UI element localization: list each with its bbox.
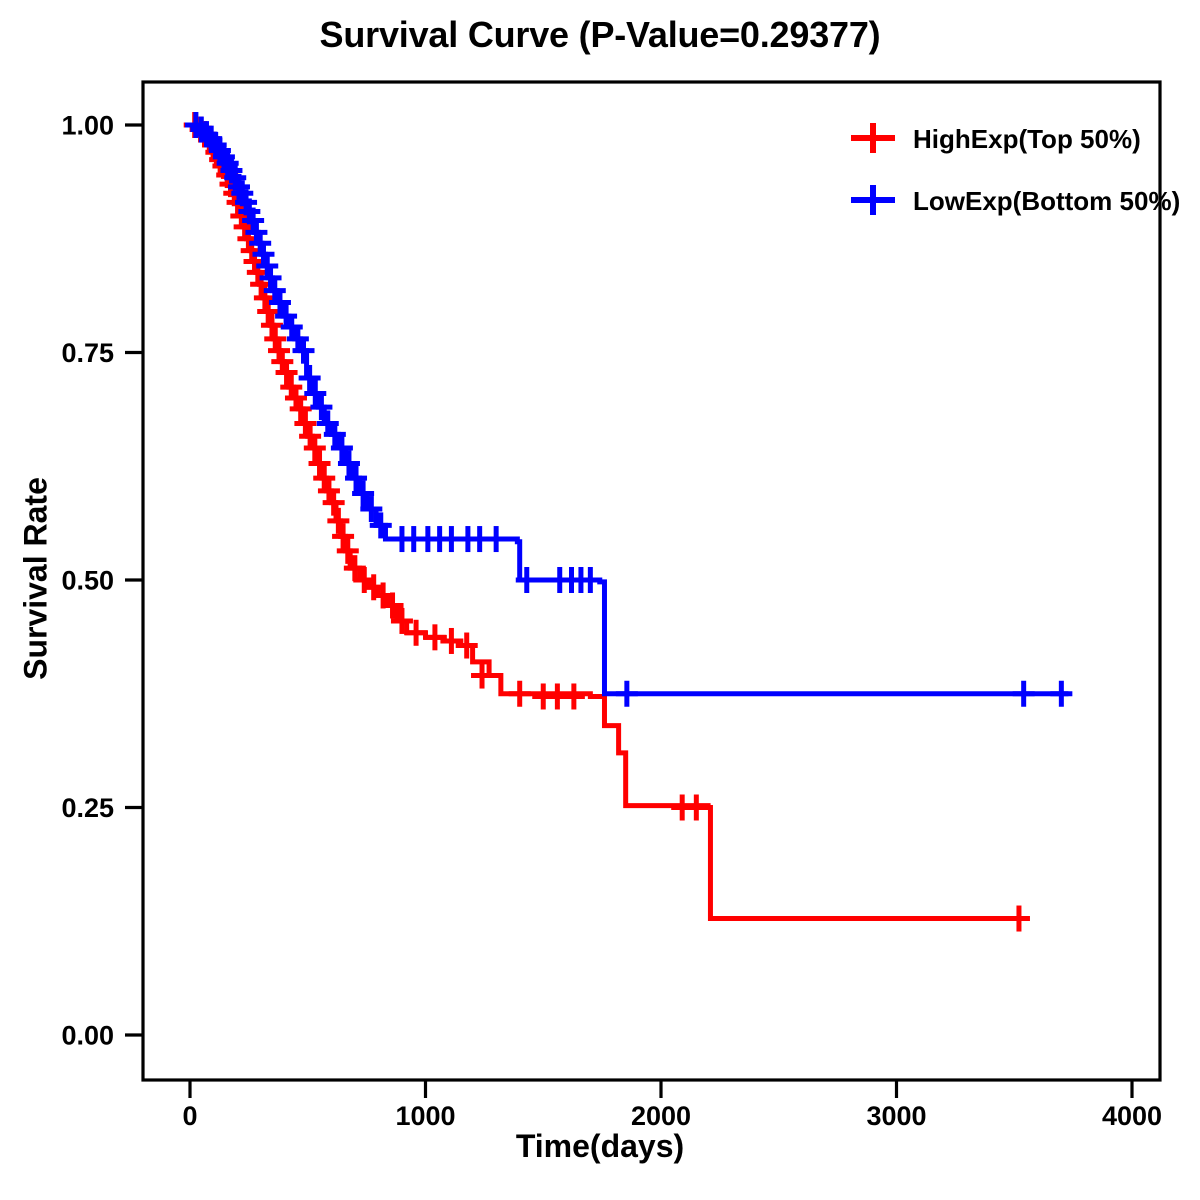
x-tick-label: 3000 bbox=[866, 1101, 926, 1131]
y-tick-label: 0.75 bbox=[61, 338, 114, 368]
y-axis-ticks: 0.000.250.500.751.00 bbox=[61, 111, 143, 1051]
y-tick-label: 0.50 bbox=[61, 566, 114, 596]
plot-frame bbox=[143, 82, 1160, 1080]
y-tick-label: 0.25 bbox=[61, 793, 114, 823]
x-tick-label: 0 bbox=[182, 1101, 197, 1131]
x-axis-ticks: 01000200030004000 bbox=[182, 1080, 1162, 1131]
x-tick-label: 4000 bbox=[1102, 1101, 1162, 1131]
series-layer bbox=[184, 112, 1073, 932]
x-tick-label: 1000 bbox=[395, 1101, 455, 1131]
plot-svg: 01000200030004000 0.000.250.500.751.00 H… bbox=[0, 0, 1200, 1200]
y-tick-label: 1.00 bbox=[61, 111, 114, 141]
x-tick-label: 2000 bbox=[631, 1101, 691, 1131]
legend-label: HighExp(Top 50%) bbox=[913, 124, 1141, 154]
km-series bbox=[184, 112, 1030, 932]
y-tick-label: 0.00 bbox=[61, 1021, 114, 1051]
legend-label: LowExp(Bottom 50%) bbox=[913, 186, 1180, 216]
survival-chart-root: Survival Curve (P-Value=0.29377) Surviva… bbox=[0, 0, 1200, 1200]
km-step-line bbox=[190, 125, 1025, 919]
chart-legend: HighExp(Top 50%)LowExp(Bottom 50%) bbox=[851, 123, 1180, 216]
